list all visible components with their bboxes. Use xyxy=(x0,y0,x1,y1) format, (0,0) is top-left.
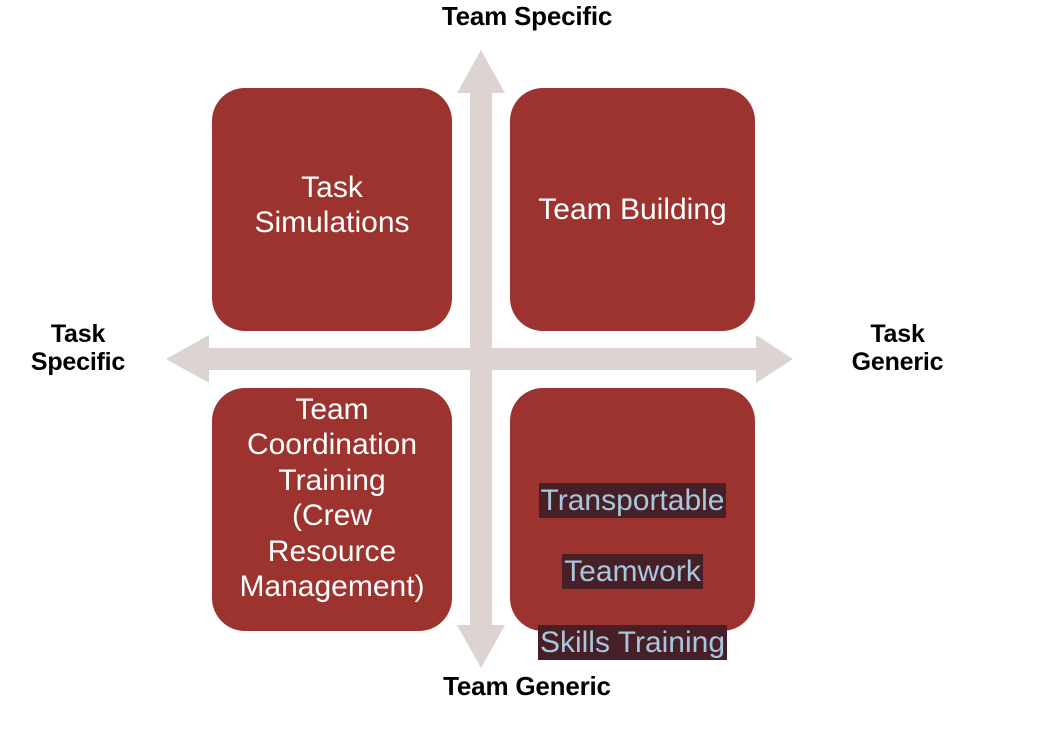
quadrant-label-transportable-teamwork-skills-training[interactable]: Transportable Teamwork Skills Training xyxy=(505,448,760,696)
horizontal-axis-arrow xyxy=(166,335,793,383)
quadrant-label-team-coordination-training: Team Coordination Training (Crew Resourc… xyxy=(198,392,466,604)
selected-text-line: Transportable xyxy=(505,483,760,518)
selected-text: Teamwork xyxy=(562,554,703,589)
selected-text-line: Skills Training xyxy=(505,625,760,660)
axis-label-task-generic: Task Generic xyxy=(810,320,985,377)
axis-label-task-specific: Task Specific xyxy=(0,320,156,377)
quadrant-label-task-simulations: Task Simulations xyxy=(212,170,452,241)
axis-label-team-specific: Team Specific xyxy=(0,2,1054,31)
quadrant-label-team-building: Team Building xyxy=(500,192,765,227)
selected-text-line: Teamwork xyxy=(505,554,760,589)
quadrant-diagram-canvas: Team Specific Team Generic Task Specific… xyxy=(0,0,1054,732)
selected-text: Skills Training xyxy=(538,625,727,660)
selected-text: Transportable xyxy=(539,483,727,518)
